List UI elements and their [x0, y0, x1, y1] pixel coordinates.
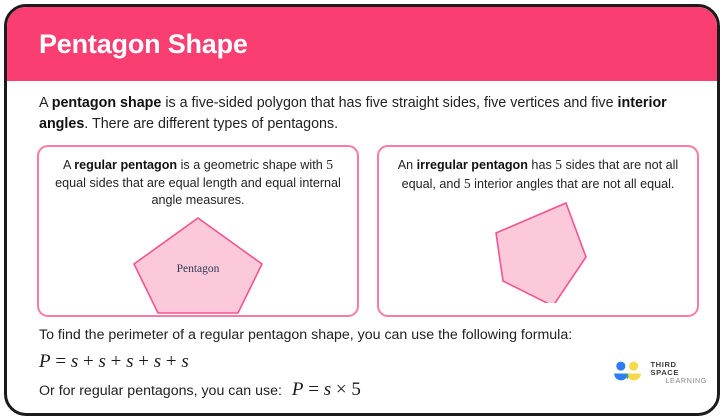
- formula-perimeter-sum: P = s + s + s + s + s: [39, 351, 189, 373]
- perimeter-intro-line: To find the perimeter of a regular penta…: [39, 327, 639, 343]
- regular-pentagons-line: Or for regular pentagons, you can use: P…: [39, 379, 361, 401]
- formula1-term-3: s: [154, 351, 161, 372]
- formula1-op-0: +: [83, 351, 94, 372]
- logo-body-yellow: [627, 373, 641, 380]
- formula1-term-4: s: [181, 351, 188, 372]
- logo-body-blue: [614, 373, 628, 380]
- card-regular-text: A regular pentagon is a geometric shape …: [50, 156, 346, 210]
- formula2-lhs: P: [292, 379, 304, 400]
- header-banner: Pentagon Shape: [7, 7, 717, 81]
- formula1-op-2: +: [138, 351, 149, 372]
- card-regular-text-1: A: [63, 158, 74, 172]
- logo-head-yellow: [629, 362, 638, 371]
- logo-body-overlap-green: [627, 373, 629, 379]
- formula1-lhs: P: [39, 351, 51, 372]
- intro-paragraph: A pentagon shape is a five-sided polygon…: [39, 93, 687, 135]
- logo-mark-icon: [611, 360, 644, 386]
- logo-line-1: THIRD SPACE: [650, 361, 707, 378]
- intro-bold-pentagon-shape: pentagon shape: [52, 95, 162, 111]
- formula-perimeter-product: P = s × 5: [292, 379, 361, 401]
- formula2-operator: ×: [336, 379, 347, 400]
- card-irregular-pentagon: An irregular pentagon has 5 sides that a…: [377, 145, 699, 317]
- card-irregular-text-4: interior angles that are not all equal.: [471, 177, 675, 191]
- card-irregular-text-2: has: [528, 158, 555, 172]
- card-irregular-number-1: 5: [555, 157, 562, 172]
- formula1-term-0: s: [71, 351, 78, 372]
- intro-text-3: . There are different types of pentagons…: [84, 116, 338, 132]
- card-irregular-bold: irregular pentagon: [417, 158, 528, 172]
- logo-line-2: LEARNING: [650, 377, 707, 385]
- irregular-pentagon-svg: [379, 193, 697, 303]
- logo-head-blue: [616, 362, 625, 371]
- card-regular-text-2: is a geometric shape with: [177, 158, 326, 172]
- irregular-pentagon-polygon: [496, 203, 586, 303]
- formula1-eq: =: [55, 351, 66, 372]
- card-regular-bold: regular pentagon: [74, 158, 177, 172]
- formula1-op-1: +: [111, 351, 122, 372]
- formula2-variable: s: [324, 379, 331, 400]
- intro-text-1: A: [39, 95, 52, 111]
- third-space-learning-logo: THIRD SPACE LEARNING: [611, 357, 707, 389]
- formula2-value: 5: [351, 379, 361, 400]
- irregular-pentagon-shape-area: [379, 193, 697, 303]
- card-regular-pentagon: A regular pentagon is a geometric shape …: [37, 145, 359, 317]
- logo-wordmark: THIRD SPACE LEARNING: [650, 361, 707, 386]
- card-irregular-number-2: 5: [464, 176, 471, 191]
- formula2-eq: =: [308, 379, 319, 400]
- regular-line-text: Or for regular pentagons, you can use:: [39, 383, 282, 399]
- regular-pentagon-shape-area: Pentagon: [39, 210, 357, 318]
- content-frame: Pentagon Shape A pentagon shape is a fiv…: [4, 4, 720, 416]
- formula1-term-1: s: [98, 351, 105, 372]
- card-irregular-text-1: An: [398, 158, 417, 172]
- formula1-op-3: +: [166, 351, 177, 372]
- intro-text-2: is a five-sided polygon that has five st…: [161, 95, 617, 111]
- regular-pentagon-label: Pentagon: [177, 263, 220, 275]
- page-title: Pentagon Shape: [39, 29, 248, 60]
- card-regular-number: 5: [326, 157, 333, 172]
- regular-pentagon-svg: Pentagon: [39, 210, 357, 318]
- card-irregular-text: An irregular pentagon has 5 sides that a…: [390, 156, 686, 193]
- page-root: Pentagon Shape A pentagon shape is a fiv…: [0, 0, 724, 420]
- formula1-term-2: s: [126, 351, 133, 372]
- card-regular-text-3: equal sides that are equal length and eq…: [55, 176, 341, 208]
